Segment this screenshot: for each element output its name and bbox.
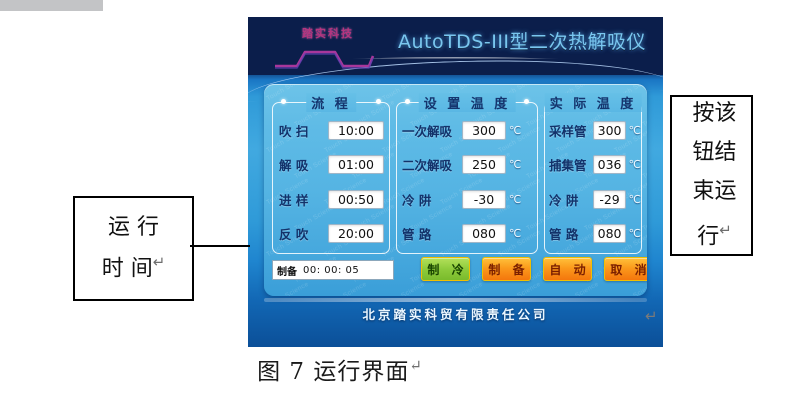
annotation-run-time: 运 行 时 间↵ xyxy=(73,196,194,301)
group-dot-left xyxy=(405,99,410,104)
panel-bottom-highlight xyxy=(264,298,647,302)
brand-logo: 踏实科技 xyxy=(273,25,378,73)
set-unit-0: ℃ xyxy=(509,124,521,137)
group-set-temperature: 设 置 温 度 一次解吸 300 ℃ 二次解吸 250 ℃ 冷 阱 -30 ℃ … xyxy=(396,102,538,254)
set-value-1[interactable]: 250 xyxy=(462,155,506,174)
actual-unit-0: ℃ xyxy=(629,124,641,137)
cool-button[interactable]: 制 冷 xyxy=(421,257,470,281)
actual-unit-3: ℃ xyxy=(629,227,641,240)
cancel-button[interactable]: 取 消 xyxy=(604,257,647,281)
group-actual-temperature: 实 际 温 度 采样管 300 ℃ 捕集管 036 ℃ 冷 阱 -29 ℃ 管 … xyxy=(544,102,642,254)
actual-label-1: 捕集管 xyxy=(549,155,590,174)
set-label-1: 二次解吸 xyxy=(402,155,458,174)
waveform-icon xyxy=(273,42,378,72)
top-left-grey-bar xyxy=(0,0,103,11)
pilcrow-icon: ↵ xyxy=(719,221,732,239)
actual-value-0[interactable]: 300 xyxy=(593,121,625,140)
run-time-status-value: 00: 00: 05 xyxy=(303,265,359,276)
run-time-status-field: 制备 00: 00: 05 xyxy=(272,260,394,280)
set-value-0[interactable]: 300 xyxy=(462,121,506,140)
flow-value-0[interactable]: 10:00 xyxy=(328,121,384,140)
group-actual-temperature-title: 实 际 温 度 xyxy=(545,93,642,112)
device-title: AutoTDS-III型二次热解吸仪 xyxy=(388,27,656,54)
annotation-leader-line xyxy=(190,245,250,247)
pilcrow-icon: ↵ xyxy=(153,253,166,271)
flow-value-1[interactable]: 01:00 xyxy=(328,155,384,174)
action-button-group: 制 冷 制 备 自 动 取 消 xyxy=(421,257,647,281)
actual-unit-1: ℃ xyxy=(629,158,641,171)
set-label-3: 管 路 xyxy=(402,224,458,243)
actual-label-0: 采样管 xyxy=(549,121,590,140)
control-panel: Touch ScienceTouch ScienceTouch ScienceT… xyxy=(264,84,647,296)
group-dot-right xyxy=(376,99,381,104)
auto-button[interactable]: 自 动 xyxy=(543,257,592,281)
pilcrow-icon: ↵ xyxy=(409,356,423,374)
annotation-cancel-hint: 按该 钮结 束运 行↵ xyxy=(670,95,753,256)
device-screen: 踏实科技 AutoTDS-III型二次热解吸仪 Touch ScienceTou… xyxy=(248,17,663,347)
prepare-button[interactable]: 制 备 xyxy=(482,257,531,281)
annotation-cancel-hint-line4: 行 xyxy=(697,225,719,250)
annotation-run-time-line1: 运 行 xyxy=(108,211,159,245)
annotation-cancel-hint-line1: 按该 xyxy=(678,94,751,133)
set-unit-1: ℃ xyxy=(509,158,521,171)
company-footer: 北京踏实科贸有限责任公司 xyxy=(248,304,663,323)
actual-label-3: 管 路 xyxy=(549,224,590,243)
annotation-cancel-hint-line2: 钮结 xyxy=(678,133,751,172)
actual-value-3[interactable]: 080 xyxy=(593,224,625,243)
set-unit-2: ℃ xyxy=(509,193,521,206)
group-dot-right xyxy=(524,99,529,104)
caption-pilcrow-icon: ↵ xyxy=(645,307,658,325)
flow-value-2[interactable]: 00:50 xyxy=(328,190,384,209)
flow-label-2: 进 样 xyxy=(279,190,323,209)
group-dot-left xyxy=(281,99,286,104)
flow-value-3[interactable]: 20:00 xyxy=(328,224,384,243)
actual-value-1[interactable]: 036 xyxy=(593,155,625,174)
run-time-status-label: 制备 xyxy=(277,263,297,278)
group-flow-title: 流 程 xyxy=(306,93,356,112)
set-value-2[interactable]: -30 xyxy=(462,190,506,209)
group-set-temperature-title: 设 置 温 度 xyxy=(419,93,516,112)
flow-label-1: 解 吸 xyxy=(279,155,323,174)
actual-unit-2: ℃ xyxy=(629,193,641,206)
group-flow: 流 程 吹 扫 10:00 解 吸 01:00 进 样 00:50 反 吹 20… xyxy=(272,102,390,254)
set-label-0: 一次解吸 xyxy=(402,121,458,140)
flow-label-0: 吹 扫 xyxy=(279,121,323,140)
set-value-3[interactable]: 080 xyxy=(462,224,506,243)
brand-logo-text: 踏实科技 xyxy=(283,25,373,41)
set-label-2: 冷 阱 xyxy=(402,190,458,209)
actual-label-2: 冷 阱 xyxy=(549,190,590,209)
figure-caption-text: 图 7 运行界面 xyxy=(257,359,409,385)
figure-caption: 图 7 运行界面↵ xyxy=(0,352,680,386)
flow-label-3: 反 吹 xyxy=(279,224,323,243)
actual-value-2[interactable]: -29 xyxy=(593,190,625,209)
set-unit-3: ℃ xyxy=(509,227,521,240)
annotation-cancel-hint-line3: 束运 xyxy=(678,172,751,211)
annotation-run-time-line2: 时 间 xyxy=(102,256,153,281)
